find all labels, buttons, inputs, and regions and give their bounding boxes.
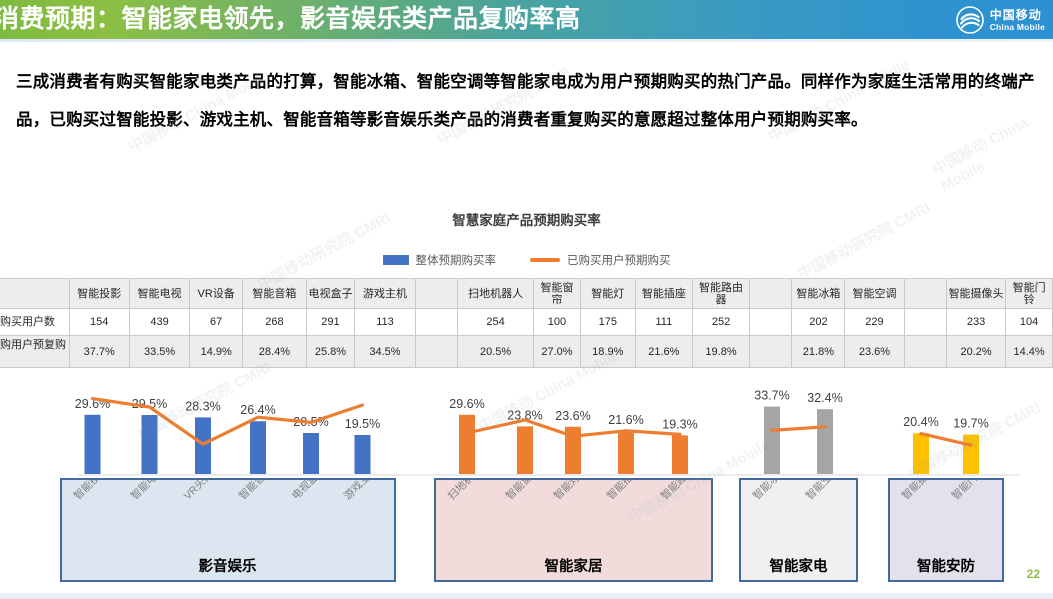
table-header-cell: 智能电视: [129, 279, 189, 309]
table-cell: 14.9%: [190, 336, 243, 368]
legend-item-overall: 整体预期购买率: [383, 252, 497, 268]
table-header-spacer: [750, 279, 792, 309]
chart-bar: [618, 431, 634, 474]
page-number: 22: [1027, 567, 1040, 581]
chart-bar: [963, 435, 979, 474]
legend-label-overall: 整体预期购买率: [416, 252, 497, 268]
chart-bar-label: 23.6%: [555, 409, 590, 423]
table-cell: 21.6%: [635, 336, 692, 368]
header-underline: [0, 39, 1053, 42]
table-cell: 27.0%: [534, 336, 581, 368]
table-cell-spacer: [750, 309, 792, 336]
logo-text-cn: 中国移动: [990, 9, 1045, 21]
table-cell-spacer: [904, 336, 946, 368]
table-cell-spacer: [415, 336, 457, 368]
chart-bar-label: 20.4%: [903, 415, 938, 429]
table-header-cell: 智能插座: [635, 279, 692, 309]
category-group-box: 智能摄像头智能门铃/猫眼智能安防: [888, 478, 1004, 582]
table-header-spacer: [904, 279, 946, 309]
table-header-cell: 智能门铃: [1006, 279, 1053, 309]
table-cell-spacer: [750, 336, 792, 368]
table-header-cell: 电视盒子: [306, 279, 355, 309]
chart-bar: [142, 415, 158, 474]
table-header-corner: [0, 279, 69, 309]
chart-bar: [355, 435, 371, 474]
chart-bar: [817, 409, 833, 474]
table-cell: 104: [1006, 309, 1053, 336]
china-mobile-logo: 中国移动 China Mobile: [956, 6, 1045, 34]
table-header-cell: 智能路由器: [692, 279, 749, 309]
table-cell: 254: [457, 309, 533, 336]
table-cell: 229: [845, 309, 904, 336]
legend-swatch-line-icon: [530, 258, 560, 262]
chart-bar-label: 19.5%: [345, 417, 380, 431]
table-cell: 20.5%: [457, 336, 533, 368]
category-group-title: 智能安防: [890, 555, 1002, 576]
chart-bar: [459, 415, 475, 474]
table-cell: 111: [635, 309, 692, 336]
chart-bar-label: 26.4%: [240, 403, 275, 417]
table-body: 已购买用户数1544396726829111325410017511125220…: [0, 309, 1053, 368]
table-cell: 21.8%: [792, 336, 845, 368]
legend-label-purchased: 已购买用户预期购买: [567, 252, 671, 268]
table-header-cell: 智能空调: [845, 279, 904, 309]
logo-text-en: China Mobile: [990, 23, 1045, 32]
chart-bar: [672, 435, 688, 474]
legend-item-purchased: 已购买用户预期购买: [530, 252, 671, 268]
category-label: 电视盒子: [288, 478, 328, 503]
table-header-cell: 智能窗帘: [534, 279, 581, 309]
chart-bar-label: 19.7%: [953, 417, 988, 431]
table-cell: 113: [355, 309, 415, 336]
chart-bar: [85, 415, 101, 474]
category-label: 智能门铃/猫眼: [948, 478, 1004, 503]
table-header-cell: 智能冰箱: [792, 279, 845, 309]
chart-bar-label: 28.3%: [185, 399, 220, 413]
table-cell: 154: [69, 309, 129, 336]
legend-swatch-bar-icon: [383, 255, 409, 265]
table-cell: 18.9%: [580, 336, 635, 368]
category-label: 智能灯: [550, 478, 583, 503]
table-cell-spacer: [904, 309, 946, 336]
chart-bar: [517, 426, 533, 474]
chart-svg: 29.6%29.5%28.3%26.4%20.5%19.5%29.6%23.8%…: [0, 374, 1053, 479]
chart-bar-label: 33.7%: [754, 389, 789, 403]
table-cell: 14.4%: [1006, 336, 1053, 368]
category-label: 智能音箱: [235, 478, 275, 503]
category-label: 智能投影: [70, 478, 110, 503]
category-label: 智能窗帘: [502, 478, 542, 503]
chart-title: 智慧家庭产品预期购买率: [0, 209, 1053, 229]
table-row-label: 已购买用户数: [0, 309, 69, 336]
logo-text: 中国移动 China Mobile: [990, 9, 1045, 32]
table-cell: 28.4%: [243, 336, 307, 368]
table-header-cell: 游戏主机: [355, 279, 415, 309]
category-label: 游戏主机: [340, 478, 380, 503]
chart-bar: [250, 421, 266, 474]
table-head: 智能投影智能电视VR设备智能音箱电视盒子游戏主机扫地机器人智能窗帘智能灯智能插座…: [0, 279, 1053, 309]
category-group-title: 影音娱乐: [62, 555, 394, 576]
chart-bar-label: 19.3%: [662, 417, 697, 431]
table-cell: 25.8%: [306, 336, 355, 368]
data-table: 智能投影智能电视VR设备智能音箱电视盒子游戏主机扫地机器人智能窗帘智能灯智能插座…: [0, 278, 1053, 368]
table-cell: 67: [190, 309, 243, 336]
category-label: 智能空调: [802, 478, 842, 503]
table-cell: 34.5%: [355, 336, 415, 368]
category-label: 智能路由器: [657, 478, 705, 503]
table-header-cell: 智能摄像头: [946, 279, 1005, 309]
table-cell: 439: [129, 309, 189, 336]
table-cell-spacer: [415, 309, 457, 336]
category-group-title: 智能家居: [436, 555, 711, 576]
chart-bar: [913, 433, 929, 474]
table-cell: 19.8%: [692, 336, 749, 368]
category-label: VR头戴设备: [180, 478, 231, 503]
category-group-box: 智能冰箱智能空调智能家电: [739, 478, 858, 582]
table-row: 已购买用户数1544396726829111325410017511125220…: [0, 309, 1053, 336]
category-label: 扫地机器人: [444, 478, 492, 503]
category-label: 智能冰箱: [749, 478, 789, 503]
table-row: 已购用户预复购率37.7%33.5%14.9%28.4%25.8%34.5%20…: [0, 336, 1053, 368]
table-header-cell: 智能灯: [580, 279, 635, 309]
category-group-title: 智能家电: [741, 555, 856, 576]
chart-bar-label: 32.4%: [807, 391, 842, 405]
table-header-cell: 扫地机器人: [457, 279, 533, 309]
table-header-row: 智能投影智能电视VR设备智能音箱电视盒子游戏主机扫地机器人智能窗帘智能灯智能插座…: [0, 279, 1053, 309]
table-row-label: 已购用户预复购率: [0, 336, 69, 368]
data-table-wrapper: 智能投影智能电视VR设备智能音箱电视盒子游戏主机扫地机器人智能窗帘智能灯智能插座…: [0, 278, 1053, 368]
category-label: 智能摄像头: [898, 478, 946, 503]
category-group-box: 智能投影智能电视VR头戴设备智能音箱电视盒子游戏主机影音娱乐: [60, 478, 396, 582]
category-label: 智能插座: [603, 478, 643, 503]
table-cell: 291: [306, 309, 355, 336]
table-cell: 33.5%: [129, 336, 189, 368]
chart-legend: 整体预期购买率 已购买用户预期购买: [0, 252, 1053, 268]
chart-bar-label: 21.6%: [608, 413, 643, 427]
chart-bar: [303, 433, 319, 474]
table-header-cell: 智能音箱: [243, 279, 307, 309]
table-cell: 37.7%: [69, 336, 129, 368]
chart-bar: [764, 407, 780, 474]
table-header-cell: VR设备: [190, 279, 243, 309]
chart-plot-area: 29.6%29.5%28.3%26.4%20.5%19.5%29.6%23.8%…: [0, 374, 1053, 479]
table-cell: 23.6%: [845, 336, 904, 368]
page-title: 消费预期：智能家电领先，影音娱乐类产品复购率高: [0, 3, 581, 36]
table-cell: 175: [580, 309, 635, 336]
page-header: 消费预期：智能家电领先，影音娱乐类产品复购率高 中国移动 China Mobil…: [0, 0, 1053, 39]
table-cell: 252: [692, 309, 749, 336]
table-cell: 233: [946, 309, 1005, 336]
china-mobile-logo-icon: [956, 6, 984, 34]
body-paragraph: 三成消费者有购买智能家电类产品的打算，智能冰箱、智能空调等智能家电成为用户预期购…: [16, 63, 1038, 139]
footer-divider: [0, 593, 1053, 599]
table-cell: 268: [243, 309, 307, 336]
chart-bar-label: 29.6%: [449, 397, 484, 411]
table-header-spacer: [415, 279, 457, 309]
table-cell: 100: [534, 309, 581, 336]
table-cell: 202: [792, 309, 845, 336]
table-cell: 20.2%: [946, 336, 1005, 368]
category-group-box: 扫地机器人智能窗帘智能灯智能插座智能路由器智能家居: [434, 478, 713, 582]
category-label: 智能电视: [127, 478, 167, 503]
table-header-cell: 智能投影: [69, 279, 129, 309]
